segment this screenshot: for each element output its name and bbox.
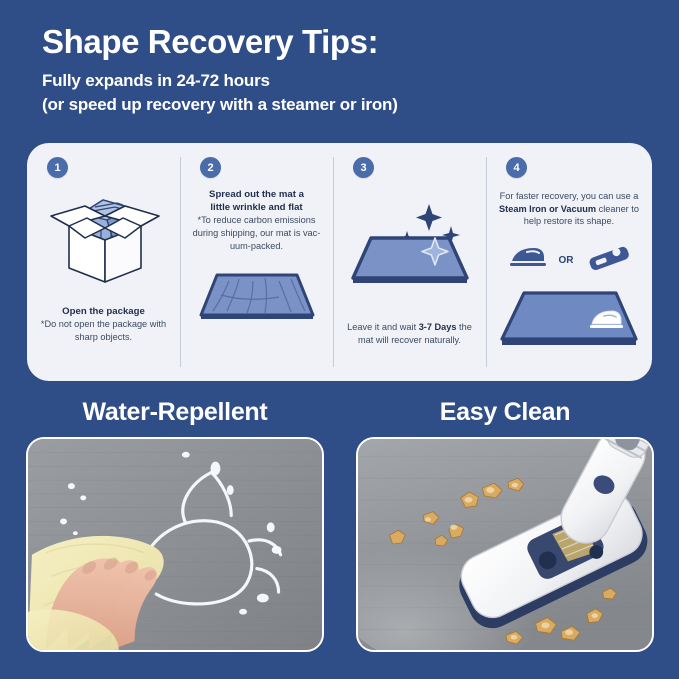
- step-2-heading-line-1: Spread out the mat a: [192, 188, 321, 201]
- vacuum-head-icon: [586, 244, 632, 277]
- step-2-body: *To reduce carbon emissions during shipp…: [192, 214, 321, 252]
- step-2-number-badge: 2: [200, 157, 221, 178]
- or-label: OR: [559, 255, 574, 266]
- steam-iron-icon: [507, 245, 547, 276]
- step-1: 1: [27, 143, 180, 381]
- step-2: 2 Spread out the mat a little wrinkle an…: [180, 143, 333, 381]
- step-3-body-bold: 3-7 Days: [419, 322, 457, 332]
- hand-wiping-water-on-grey-mat-photo: [26, 437, 324, 652]
- step-4-tool-icons: OR: [507, 244, 632, 277]
- step-4-body-prefix: For faster recovery, you can use a: [500, 191, 639, 201]
- subtitle-line-2: (or speed up recovery with a steamer or …: [42, 93, 642, 117]
- step-4: 4 For faster recovery, you can use a Ste…: [486, 143, 652, 381]
- step-1-text: Open the package *Do not open the packag…: [35, 305, 172, 344]
- step-1-heading: Open the package: [39, 305, 168, 318]
- step-3-number-badge: 3: [353, 157, 374, 178]
- page-subtitle: Fully expands in 24-72 hours (or speed u…: [42, 69, 642, 117]
- sparkling-mat-icon: [343, 182, 477, 299]
- wrinkled-flat-mat-icon: [195, 269, 319, 328]
- open-box-with-compressed-mat-icon: [45, 180, 163, 291]
- step-3-body-prefix: Leave it and wait: [347, 322, 419, 332]
- page-title: Shape Recovery Tips:: [42, 24, 642, 61]
- vacuum-cleaning-crumbs-on-grey-mat-photo: [356, 437, 654, 652]
- step-1-body: *Do not open the package with sharp obje…: [39, 318, 168, 343]
- step-3: 3 Leave it and wait 3-7 Days the mat wil…: [333, 143, 486, 381]
- feature-easy-clean: Easy Clean: [356, 398, 654, 652]
- page-header: Shape Recovery Tips: Fully expands in 24…: [42, 24, 642, 117]
- feature-water-repellent-title: Water-Repellent: [26, 398, 324, 427]
- steps-card: 1: [27, 143, 652, 381]
- feature-water-repellent: Water-Repellent: [26, 398, 324, 652]
- step-4-body-bold: Steam Iron or Vacuum: [499, 204, 596, 214]
- feature-easy-clean-title: Easy Clean: [356, 398, 654, 427]
- step-4-number-badge: 4: [506, 157, 527, 178]
- step-2-heading-line-2: little wrinkle and flat: [192, 201, 321, 214]
- step-1-number-badge: 1: [47, 157, 68, 178]
- iron-and-vacuum-on-mat-icon: [494, 289, 644, 354]
- subtitle-line-1: Fully expands in 24-72 hours: [42, 69, 642, 93]
- step-2-text: Spread out the mat a little wrinkle and …: [188, 188, 325, 253]
- step-3-text: Leave it and wait 3-7 Days the mat will …: [341, 321, 478, 346]
- step-4-text: For faster recovery, you can use a Steam…: [494, 190, 644, 228]
